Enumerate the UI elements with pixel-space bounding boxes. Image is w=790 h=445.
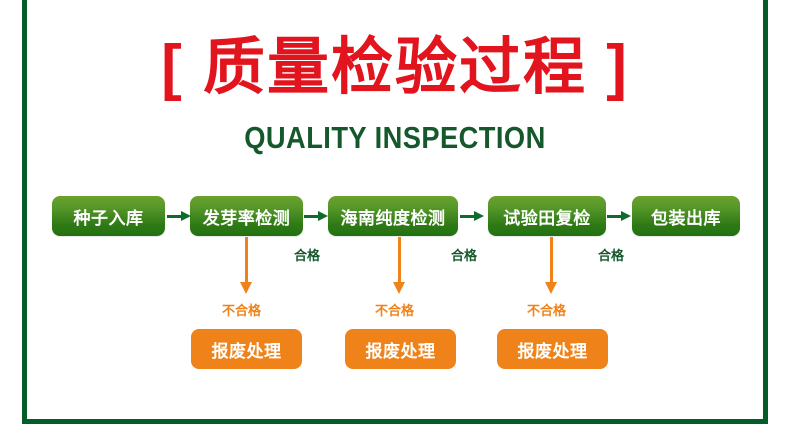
arrow-head — [318, 211, 328, 221]
arrow-right-icon-1 — [167, 211, 191, 221]
reject-box-3[interactable]: 报废处理 — [497, 329, 608, 369]
frame-bottom-border — [22, 419, 768, 424]
page-subtitle: QUALITY INSPECTION — [47, 122, 742, 153]
flow-step-packaging-outbound[interactable]: 包装出库 — [632, 196, 740, 236]
arrow-shaft — [550, 237, 553, 282]
reject-box-1[interactable]: 报废处理 — [191, 329, 302, 369]
page-title: [ 质量检验过程 ] — [0, 37, 790, 99]
reject-box-2[interactable]: 报废处理 — [345, 329, 456, 369]
arrow-shaft — [398, 237, 401, 282]
arrow-right-icon-3 — [460, 211, 484, 221]
arrow-right-icon-2 — [304, 211, 328, 221]
flow-step-field-retest[interactable]: 试验田复检 — [488, 196, 606, 236]
flow-step-germination-test[interactable]: 发芽率检测 — [190, 196, 303, 236]
arrow-right-icon-4 — [607, 211, 631, 221]
fail-label-1: 不合格 — [222, 300, 261, 319]
arrow-shaft — [245, 237, 248, 282]
flow-step-hainan-purity-test[interactable]: 海南纯度检测 — [328, 196, 458, 236]
pass-label-2: 合格 — [451, 245, 477, 264]
arrow-head — [621, 211, 631, 221]
arrow-down-icon-1 — [240, 237, 252, 294]
arrow-head — [181, 211, 191, 221]
fail-label-3: 不合格 — [527, 300, 566, 319]
arrow-down-icon-2 — [393, 237, 405, 294]
flow-step-seed-intake[interactable]: 种子入库 — [52, 196, 165, 236]
fail-label-2: 不合格 — [375, 300, 414, 319]
arrow-head — [545, 282, 557, 294]
pass-label-1: 合格 — [294, 245, 320, 264]
poster-canvas: [ 质量检验过程 ] QUALITY INSPECTION 种子入库 发芽率检测… — [0, 0, 790, 445]
arrow-head — [393, 282, 405, 294]
arrow-head — [474, 211, 484, 221]
pass-label-3: 合格 — [598, 245, 624, 264]
arrow-down-icon-3 — [545, 237, 557, 294]
arrow-head — [240, 282, 252, 294]
